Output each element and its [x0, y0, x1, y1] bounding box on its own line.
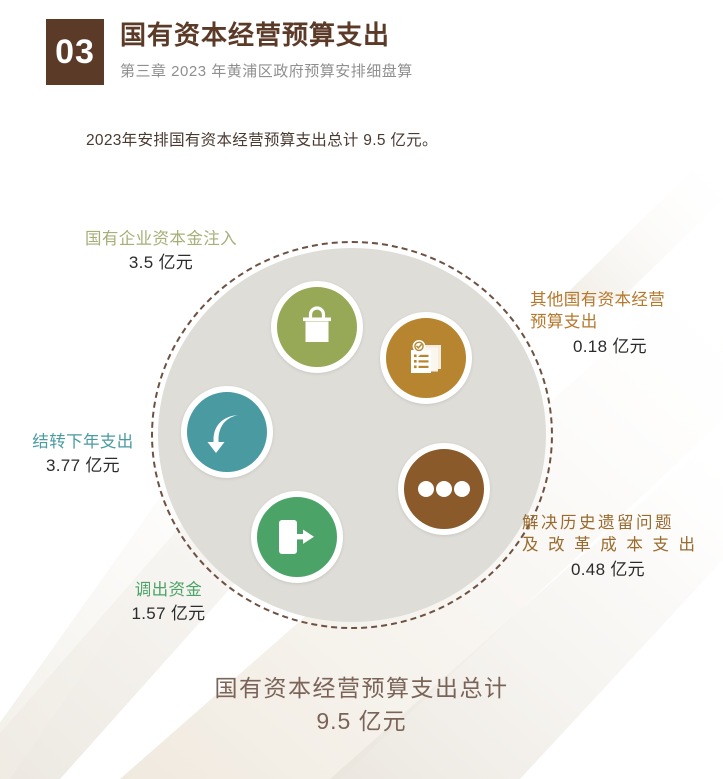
exit-arrow-icon	[275, 516, 319, 558]
section-header: 03 国有资本经营预算支出 第三章 2023 年黄浦区政府预算安排细盘算	[46, 19, 413, 85]
page-title: 国有资本经营预算支出	[120, 21, 413, 51]
other-soe-budget-caption-line2: 预算支出	[530, 311, 715, 333]
historical-reform-bubble[interactable]	[398, 443, 490, 535]
capital-injection-bubble[interactable]	[271, 281, 363, 373]
other-soe-budget-caption-line1: 其他国有资本经营	[530, 289, 715, 311]
transfer-out-caption: 调出资金	[106, 579, 231, 601]
carry-forward-bubble[interactable]	[181, 386, 273, 478]
total-summary: 国有资本经营预算支出总计 9.5 亿元	[0, 673, 723, 739]
capital-injection-caption: 国有企业资本金注入	[66, 228, 256, 250]
other-soe-budget-bubble[interactable]	[380, 312, 472, 404]
historical-reform-caption-line2: 及 改 革 成 本 支 出	[522, 534, 717, 556]
capital-injection-value: 3.5 亿元	[66, 250, 256, 276]
total-value: 9.5 亿元	[0, 704, 723, 739]
capital-injection-label: 国有企业资本金注入 3.5 亿元	[66, 228, 256, 276]
checklist-documents-icon	[403, 335, 449, 381]
section-number-badge: 03	[46, 19, 104, 85]
carry-forward-caption: 结转下年支出	[18, 431, 148, 453]
page-subtitle: 第三章 2023 年黄浦区政府预算安排细盘算	[120, 60, 413, 81]
other-soe-budget-label: 其他国有资本经营 预算支出 0.18 亿元	[530, 289, 715, 359]
historical-reform-label: 解决历史遗留问题 及 改 革 成 本 支 出 0.48 亿元	[522, 512, 717, 582]
ellipsis-dots-icon	[418, 481, 470, 497]
historical-reform-caption-line1: 解决历史遗留问题	[522, 512, 717, 534]
infographic-canvas: 03 国有资本经营预算支出 第三章 2023 年黄浦区政府预算安排细盘算 202…	[0, 0, 723, 779]
other-soe-budget-value: 0.18 亿元	[530, 334, 690, 360]
transfer-out-bubble[interactable]	[251, 491, 343, 583]
historical-reform-value: 0.48 亿元	[522, 557, 694, 583]
header-text-group: 国有资本经营预算支出 第三章 2023 年黄浦区政府预算安排细盘算	[120, 19, 413, 81]
carry-forward-value: 3.77 亿元	[18, 453, 148, 479]
intro-text: 2023年安排国有资本经营预算支出总计 9.5 亿元。	[86, 128, 438, 150]
shopping-bag-icon	[297, 306, 337, 348]
total-caption: 国有资本经营预算支出总计	[0, 673, 723, 704]
curved-down-arrow-icon	[206, 409, 248, 455]
carry-forward-label: 结转下年支出 3.77 亿元	[18, 431, 148, 479]
transfer-out-value: 1.57 亿元	[106, 601, 231, 627]
transfer-out-label: 调出资金 1.57 亿元	[106, 579, 231, 627]
